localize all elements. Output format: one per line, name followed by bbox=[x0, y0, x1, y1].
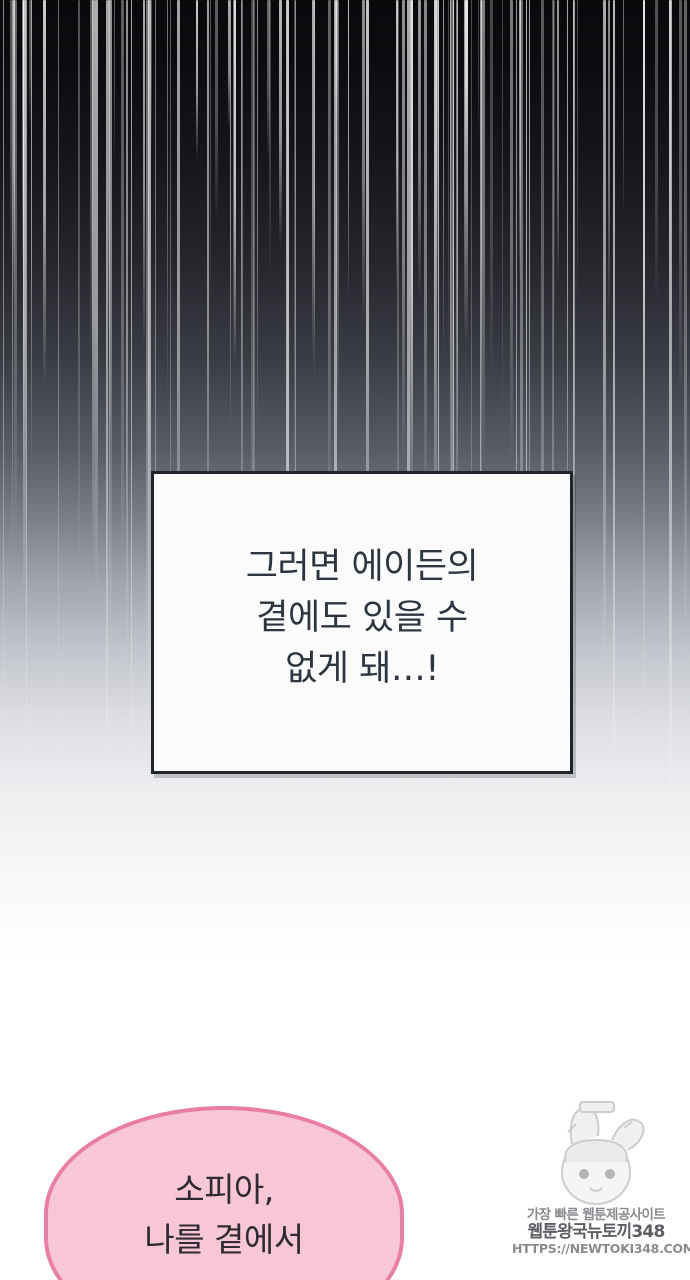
rabbit-mascot-icon bbox=[528, 1100, 664, 1212]
comic-page: 그러면 에이든의 곁에도 있을 수 없게 돼…! 소피아, 나를 곁에서 가장 … bbox=[0, 0, 690, 1280]
watermark: 가장 빠른 웹툰제공사이트 웹툰왕국뉴토끼348 HTTPS://NEWTOKI… bbox=[512, 1100, 680, 1270]
watermark-line-3: HTTPS://NEWTOKI348.COM bbox=[512, 1242, 680, 1256]
pink-speech-bubble-text: 소피아, 나를 곁에서 bbox=[44, 1165, 404, 1264]
watermark-lines: 가장 빠른 웹툰제공사이트 웹툰왕국뉴토끼348 HTTPS://NEWTOKI… bbox=[512, 1208, 680, 1256]
dialogue-box: 그러면 에이든의 곁에도 있을 수 없게 돼…! bbox=[151, 471, 573, 774]
dialogue-text: 그러면 에이든의 곁에도 있을 수 없게 돼…! bbox=[246, 542, 479, 694]
watermark-line-2: 웹툰왕국뉴토끼348 bbox=[512, 1223, 680, 1242]
watermark-line-1: 가장 빠른 웹툰제공사이트 bbox=[512, 1208, 680, 1223]
